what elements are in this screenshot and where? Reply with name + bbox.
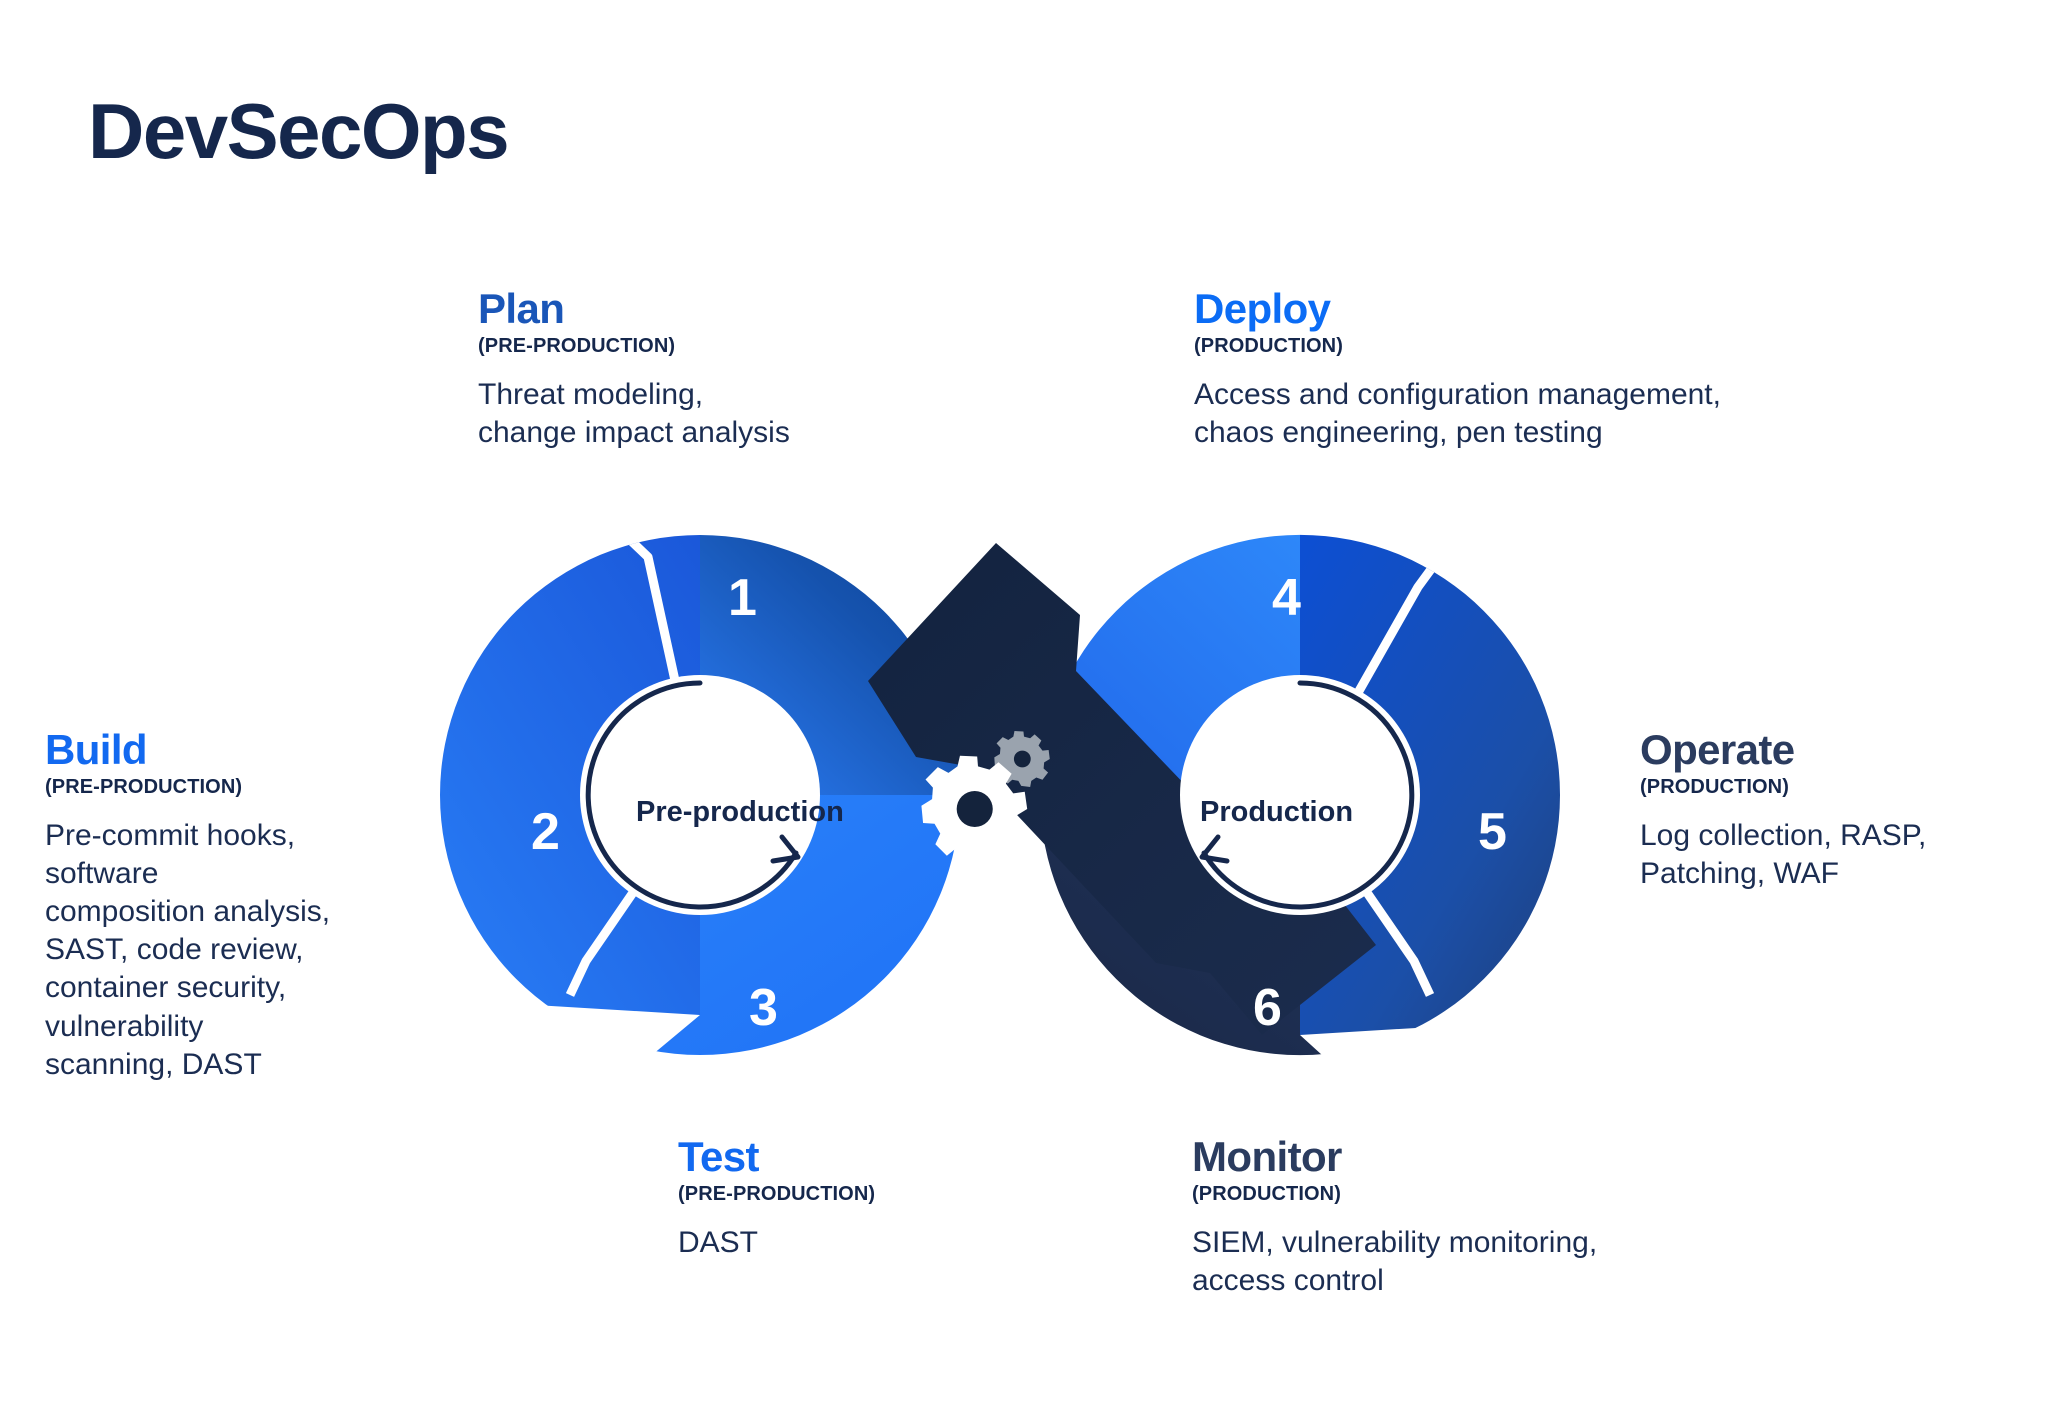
loop-number-5: 5 xyxy=(1478,806,1507,858)
stage-block-monitor: Monitor (PRODUCTION) SIEM, vulnerability… xyxy=(1192,1135,1832,1300)
stage-description-deploy: Access and configuration management, cha… xyxy=(1194,376,1954,452)
right-hub-background xyxy=(1180,675,1420,915)
loop-number-1: 1 xyxy=(728,572,757,624)
loop-number-6: 6 xyxy=(1253,982,1282,1034)
devsecops-infinity-loop xyxy=(400,495,1600,1095)
stage-description-monitor: SIEM, vulnerability monitoring, access c… xyxy=(1192,1224,1832,1300)
stage-phase-operate: (PRODUCTION) xyxy=(1640,776,2040,799)
loop-number-3: 3 xyxy=(749,982,778,1034)
stage-phase-test: (PRE-PRODUCTION) xyxy=(678,1183,1098,1206)
stage-title-build: Build xyxy=(45,728,465,772)
right-hub-label: Production xyxy=(1200,798,1353,827)
stage-block-deploy: Deploy (PRODUCTION) Access and configura… xyxy=(1194,287,1954,452)
stage-title-test: Test xyxy=(678,1135,1098,1179)
stage-title-monitor: Monitor xyxy=(1192,1135,1832,1179)
stage-description-operate: Log collection, RASP, Patching, WAF xyxy=(1640,817,2040,893)
stage-phase-monitor: (PRODUCTION) xyxy=(1192,1183,1832,1206)
left-hub-background xyxy=(580,675,820,915)
loop-number-2: 2 xyxy=(531,806,560,858)
page-title: DevSecOps xyxy=(88,92,508,170)
stage-phase-plan: (PRE-PRODUCTION) xyxy=(478,335,948,358)
left-hub-label: Pre-production xyxy=(636,798,844,827)
stage-description-plan: Threat modeling, change impact analysis xyxy=(478,376,948,452)
stage-title-deploy: Deploy xyxy=(1194,287,1954,331)
stage-phase-build: (PRE-PRODUCTION) xyxy=(45,776,465,799)
stage-description-build: Pre-commit hooks, software composition a… xyxy=(45,817,465,1084)
stage-phase-deploy: (PRODUCTION) xyxy=(1194,335,1954,358)
stage-block-operate: Operate (PRODUCTION) Log collection, RAS… xyxy=(1640,728,2040,893)
stage-block-build: Build (PRE-PRODUCTION) Pre-commit hooks,… xyxy=(45,728,465,1084)
stage-block-plan: Plan (PRE-PRODUCTION) Threat modeling, c… xyxy=(478,287,948,452)
stage-block-test: Test (PRE-PRODUCTION) DAST xyxy=(678,1135,1098,1262)
loop-number-4: 4 xyxy=(1272,572,1301,624)
stage-description-test: DAST xyxy=(678,1224,1098,1262)
stage-title-plan: Plan xyxy=(478,287,948,331)
stage-title-operate: Operate xyxy=(1640,728,2040,772)
